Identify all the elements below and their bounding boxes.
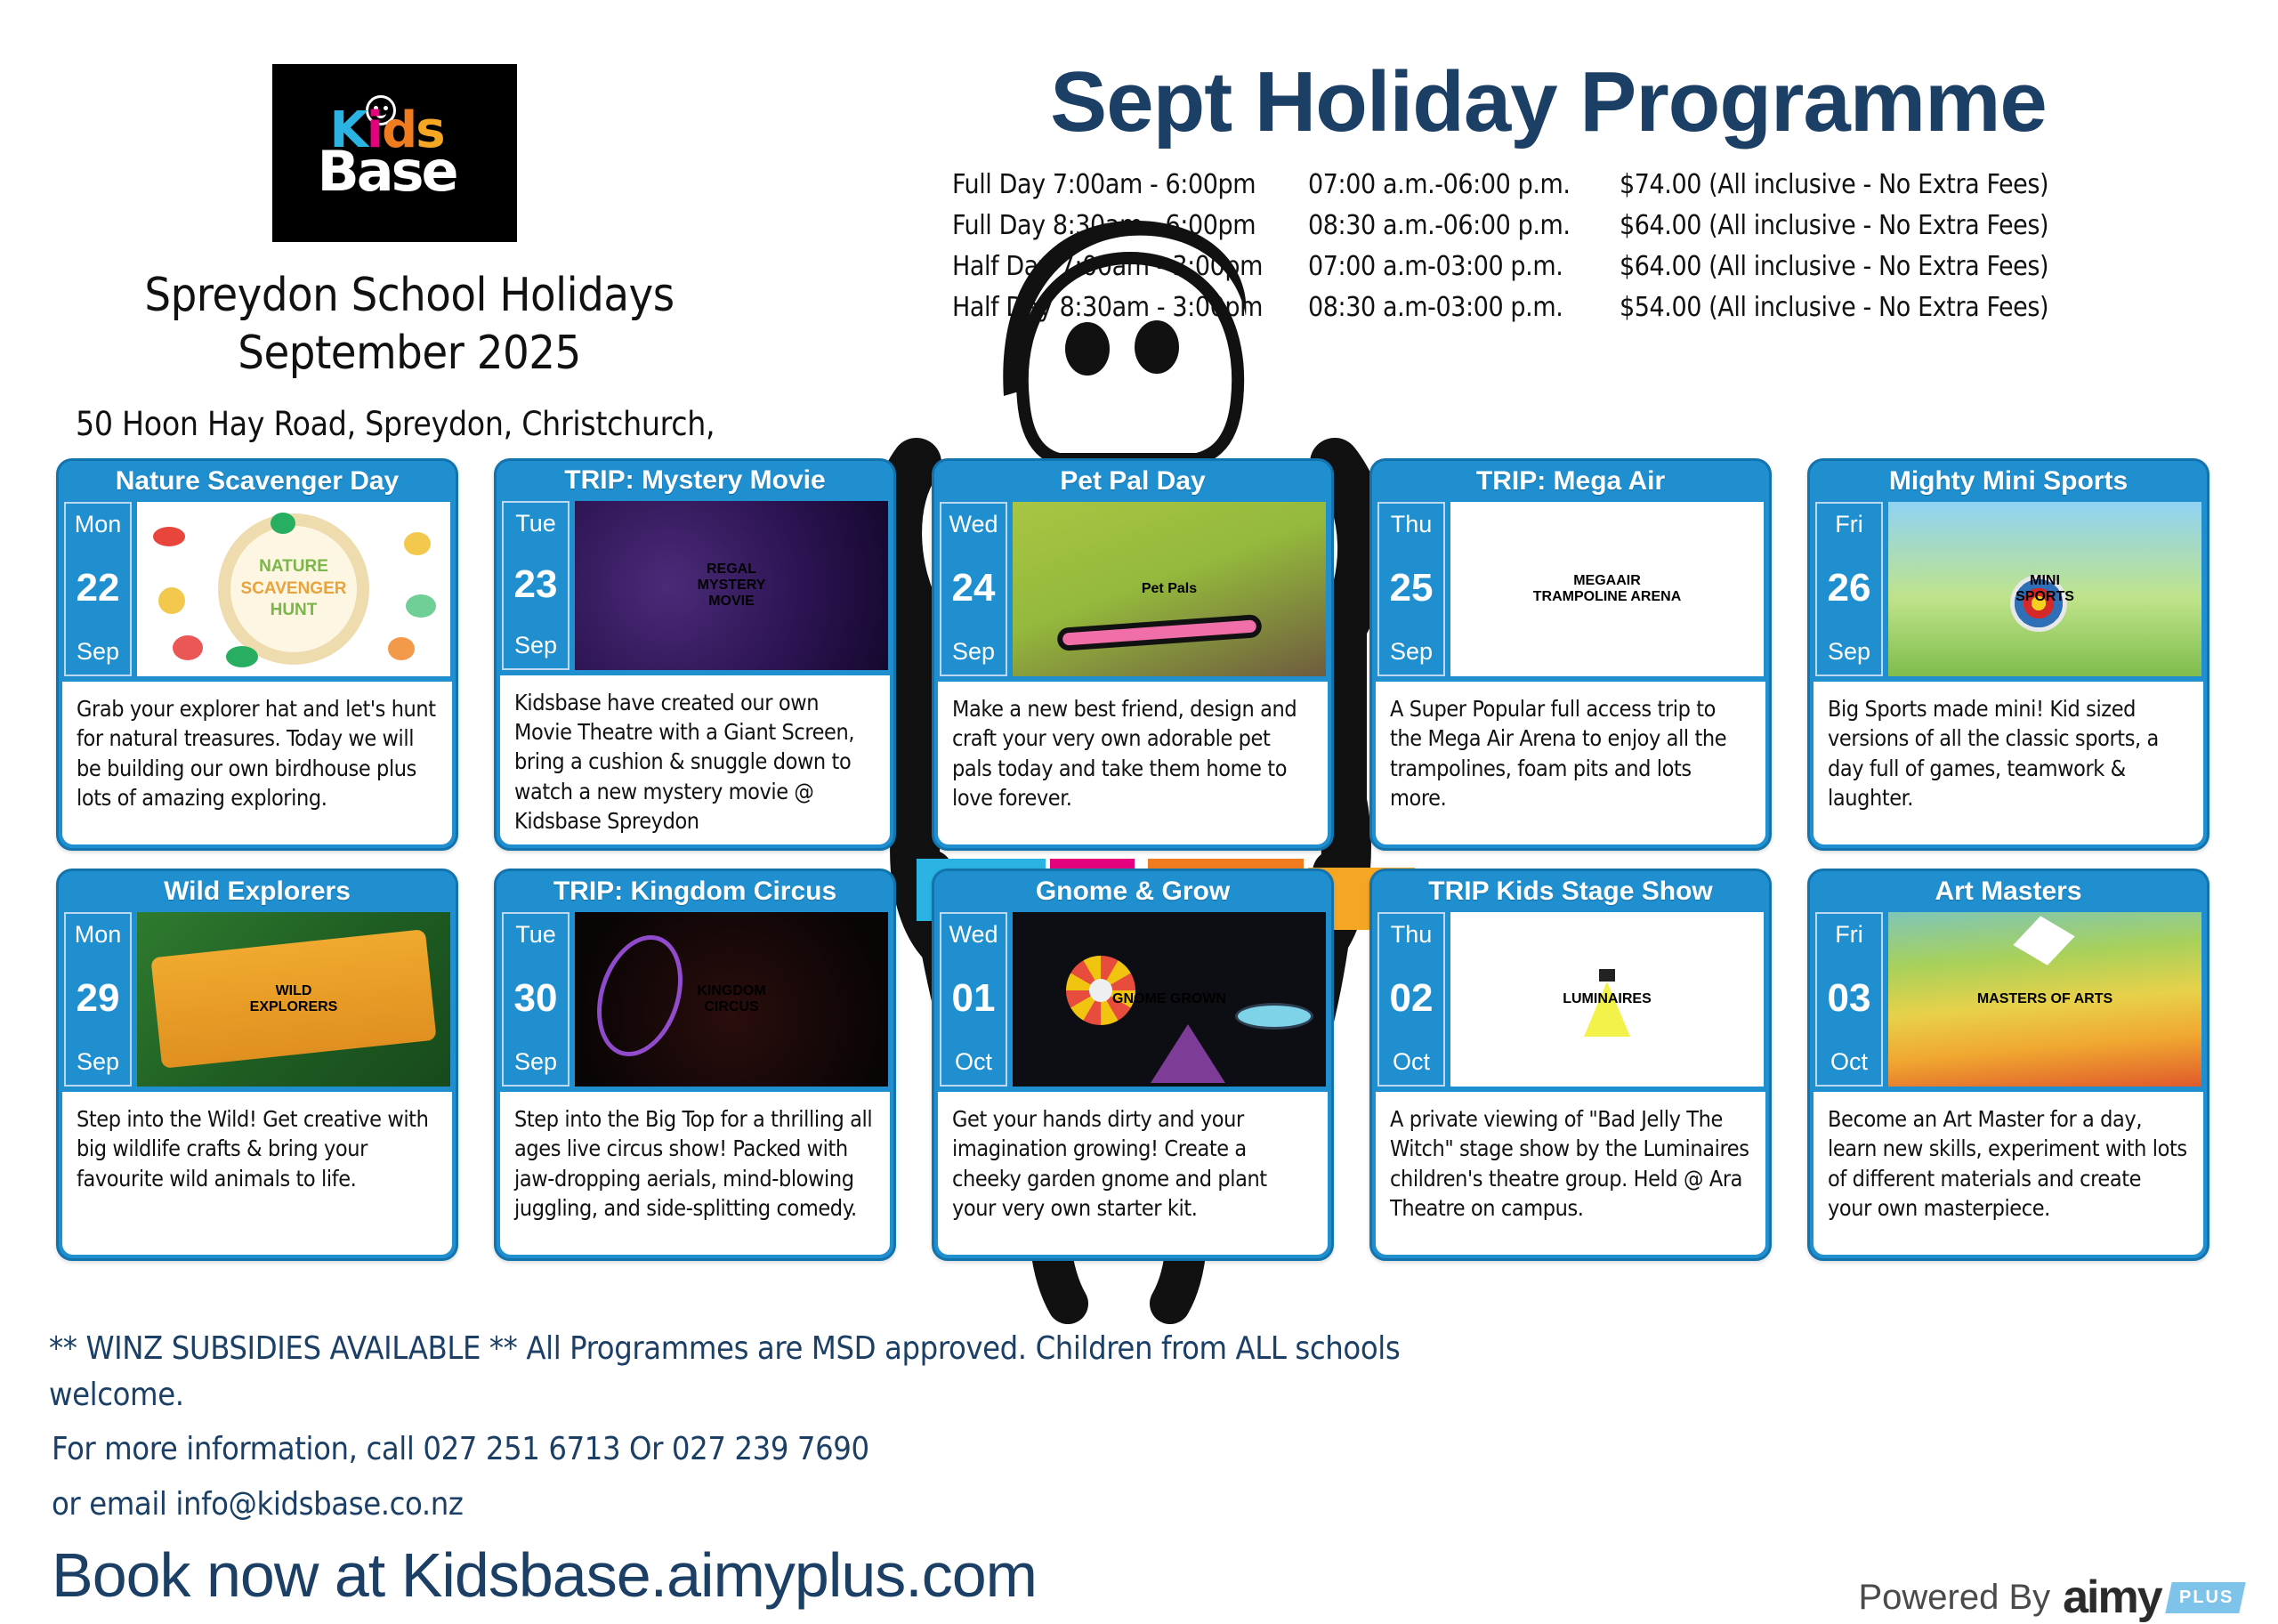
mega-air-trampoline-arena-image: MEGAAIR TRAMPOLINE ARENA bbox=[1450, 502, 1764, 676]
image-text-line-2: SCAVENGER bbox=[241, 578, 347, 601]
image-text-line-1: MINI bbox=[1888, 573, 2201, 589]
card-day-number: 22 bbox=[77, 569, 120, 608]
pricing-label: Half Day 8:30am - 3:00pm bbox=[952, 292, 1308, 323]
image-text-line-2: MYSTERY bbox=[575, 578, 888, 594]
image-text-line-2: EXPLORERS bbox=[137, 999, 450, 1015]
card-month: Sep bbox=[514, 634, 557, 658]
card-month: Sep bbox=[1390, 640, 1433, 664]
image-text-line-3: TRAMPOLINE ARENA bbox=[1450, 589, 1764, 605]
pricing-price: $74.00 (All inclusive - No Extra Fees) bbox=[1620, 169, 2136, 200]
card-description: Big Sports made mini! Kid sized versions… bbox=[1814, 682, 2203, 844]
card-date-box: Tue 30 Sep bbox=[502, 912, 569, 1087]
luminaires-image: LUMINAIRES bbox=[1450, 912, 1764, 1087]
kingdom-circus-image: KINGDOM CIRCUS bbox=[575, 912, 888, 1087]
pricing-row: Full Day 7:00am - 6:00pm 07:00 a.m.-06:0… bbox=[952, 169, 2136, 210]
pricing-times: 07:00 a.m.-06:00 p.m. bbox=[1308, 169, 1620, 200]
image-text-line-1: NATURE bbox=[241, 556, 347, 578]
card-month: Oct bbox=[955, 1050, 992, 1074]
pricing-row: Half Day 7:00am - 3:00pm 07:00 a.m-03:00… bbox=[952, 251, 2136, 292]
card-day-of-week: Wed bbox=[949, 923, 998, 947]
card-month: Sep bbox=[1828, 640, 1870, 664]
card-date-box: Mon 29 Sep bbox=[64, 912, 132, 1087]
card-day-number: 25 bbox=[1390, 569, 1434, 608]
image-text-line-1: LUMINAIRES bbox=[1450, 991, 1764, 1007]
image-text-line-3: HUNT bbox=[241, 600, 347, 622]
card-day-of-week: Fri bbox=[1835, 923, 1862, 947]
card-day-of-week: Wed bbox=[949, 513, 998, 537]
card-day-of-week: Tue bbox=[515, 923, 556, 947]
image-text-line-1: MASTERS OF ARTS bbox=[1888, 991, 2201, 1007]
school-title: Spreydon School Holidays September 2025 bbox=[36, 267, 783, 383]
pricing-times: 08:30 a.m.-06:00 p.m. bbox=[1308, 210, 1620, 241]
activity-card[interactable]: TRIP: Kingdom Circus Tue 30 Sep KINGDOM … bbox=[494, 869, 896, 1261]
card-description: A private viewing of "Bad Jelly The Witc… bbox=[1376, 1092, 1765, 1255]
wild-explorers-image: WILD EXPLORERS bbox=[137, 912, 450, 1087]
card-month: Sep bbox=[77, 640, 119, 664]
card-date-box: Thu 25 Sep bbox=[1377, 502, 1445, 676]
image-text-line-1: MEGA bbox=[1573, 573, 1616, 588]
activity-card-grid: Nature Scavenger Day Mon 22 Sep bbox=[56, 458, 2227, 1261]
card-description: A Super Popular full access trip to the … bbox=[1376, 682, 1765, 844]
card-month: Oct bbox=[1830, 1050, 1868, 1074]
card-day-number: 30 bbox=[514, 979, 558, 1018]
plus-badge: PLUS bbox=[2165, 1582, 2246, 1613]
image-text-line-2: SPORTS bbox=[1888, 589, 2201, 605]
school-title-line1: Spreydon School Holidays bbox=[36, 267, 783, 325]
card-day-number: 29 bbox=[77, 979, 120, 1018]
card-day-of-week: Tue bbox=[515, 512, 556, 536]
powered-by-aimyplus-logo: Powered By aimy PLUS bbox=[1858, 1571, 2242, 1624]
card-day-of-week: Thu bbox=[1391, 513, 1433, 537]
pricing-price: $54.00 (All inclusive - No Extra Fees) bbox=[1620, 292, 2136, 323]
card-description: Make a new best friend, design and craft… bbox=[938, 682, 1328, 844]
card-description: Step into the Wild! Get creative with bi… bbox=[62, 1092, 452, 1255]
card-day-number: 26 bbox=[1828, 569, 1871, 608]
card-description: Step into the Big Top for a thrilling al… bbox=[500, 1092, 890, 1255]
image-text-line-2: Pals bbox=[1167, 581, 1197, 596]
regal-mystery-movie-image: REGAL MYSTERY MOVIE bbox=[575, 501, 888, 670]
contact-email-line: or email info@kidsbase.co.nz bbox=[52, 1486, 463, 1523]
pricing-price: $64.00 (All inclusive - No Extra Fees) bbox=[1620, 251, 2136, 282]
activity-card[interactable]: TRIP Kids Stage Show Thu 02 Oct LUMINAIR… bbox=[1369, 869, 1772, 1261]
activity-card[interactable]: TRIP: Mega Air Thu 25 Sep MEGAAIR TRAMPO… bbox=[1369, 458, 1772, 851]
image-text-line-2: CIRCUS bbox=[575, 999, 888, 1015]
card-title: Mighty Mini Sports bbox=[1810, 461, 2207, 502]
contact-phone-line: For more information, call 027 251 6713 … bbox=[52, 1431, 869, 1467]
pricing-label: Half Day 7:00am - 3:00pm bbox=[952, 251, 1308, 282]
card-month: Sep bbox=[952, 640, 995, 664]
card-description: Get your hands dirty and your imaginatio… bbox=[938, 1092, 1328, 1255]
card-title: TRIP: Mystery Movie bbox=[497, 461, 893, 501]
pricing-times: 08:30 a.m-03:00 p.m. bbox=[1308, 292, 1620, 323]
card-description: Kidsbase have created our own Movie Thea… bbox=[500, 675, 890, 844]
card-day-number: 02 bbox=[1390, 979, 1434, 1018]
card-title: Wild Explorers bbox=[59, 871, 456, 912]
aimy-wordmark: aimy bbox=[2063, 1571, 2161, 1624]
image-text-line-1: Pet bbox=[1142, 581, 1164, 596]
card-date-box: Tue 23 Sep bbox=[502, 501, 569, 670]
pricing-row: Full Day 8:30am - 6:00pm 08:30 a.m.-06:0… bbox=[952, 210, 2136, 251]
school-title-line2: September 2025 bbox=[36, 325, 783, 383]
kidsbase-logo: Kids Base bbox=[272, 64, 517, 242]
card-date-box: Wed 01 Oct bbox=[940, 912, 1007, 1087]
programme-title: Sept Holiday Programme bbox=[961, 53, 2136, 151]
activity-card[interactable]: Art Masters Fri 03 Oct MASTERS OF ARTS B… bbox=[1807, 869, 2209, 1261]
mini-sports-image: MINI SPORTS bbox=[1888, 502, 2201, 676]
card-title: Art Masters bbox=[1810, 871, 2207, 912]
pricing-times: 07:00 a.m-03:00 p.m. bbox=[1308, 251, 1620, 282]
card-title: Nature Scavenger Day bbox=[59, 461, 456, 502]
pricing-price: $64.00 (All inclusive - No Extra Fees) bbox=[1620, 210, 2136, 241]
pricing-table: Full Day 7:00am - 6:00pm 07:00 a.m.-06:0… bbox=[952, 169, 2136, 333]
image-text-line-1: GNOME GROWN bbox=[1013, 991, 1326, 1007]
card-day-number: 01 bbox=[952, 979, 996, 1018]
activity-card[interactable]: TRIP: Mystery Movie Tue 23 Sep REGAL MYS… bbox=[494, 458, 896, 851]
card-day-of-week: Mon bbox=[75, 513, 122, 537]
card-date-box: Fri 26 Sep bbox=[1815, 502, 1883, 676]
graduation-cap-icon bbox=[2009, 912, 2080, 982]
card-date-box: Wed 24 Sep bbox=[940, 502, 1007, 676]
logo-base-text: Base bbox=[318, 144, 456, 199]
pricing-row: Half Day 8:30am - 3:00pm 08:30 a.m-03:00… bbox=[952, 292, 2136, 333]
card-day-of-week: Thu bbox=[1391, 923, 1433, 947]
activity-card[interactable]: Gnome & Grow Wed 01 Oct GNOME GROWN Get … bbox=[932, 869, 1334, 1261]
card-title: TRIP: Mega Air bbox=[1372, 461, 1769, 502]
card-day-number: 24 bbox=[952, 569, 996, 608]
card-title: Gnome & Grow bbox=[934, 871, 1331, 912]
card-month: Oct bbox=[1393, 1050, 1430, 1074]
card-title: Pet Pal Day bbox=[934, 461, 1331, 502]
school-address: 50 Hoon Hay Road, Spreydon, Christchurch… bbox=[76, 405, 715, 443]
card-date-box: Mon 22 Sep bbox=[64, 502, 132, 676]
activity-card[interactable]: Mighty Mini Sports Fri 26 Sep MINI SPORT… bbox=[1807, 458, 2209, 851]
poster-header: Kids Base Spreydon School Holidays Septe… bbox=[0, 0, 2278, 436]
booking-link[interactable]: Book now at Kidsbase.aimyplus.com bbox=[52, 1539, 1037, 1611]
card-day-number: 23 bbox=[514, 565, 558, 604]
activity-card[interactable]: Wild Explorers Mon 29 Sep WILD EXPLORERS… bbox=[56, 869, 458, 1261]
activity-card[interactable]: Nature Scavenger Day Mon 22 Sep bbox=[56, 458, 458, 851]
masters-of-arts-image: MASTERS OF ARTS bbox=[1888, 912, 2201, 1087]
card-month: Sep bbox=[77, 1050, 119, 1074]
image-text-line-1: KINGDOM bbox=[575, 983, 888, 999]
pricing-label: Full Day 7:00am - 6:00pm bbox=[952, 169, 1308, 200]
card-day-number: 03 bbox=[1828, 979, 1871, 1018]
pet-pals-image: Pet Pals bbox=[1013, 502, 1326, 676]
card-title: TRIP Kids Stage Show bbox=[1372, 871, 1769, 912]
activity-card[interactable]: Pet Pal Day Wed 24 Sep Pet Pals Make a n… bbox=[932, 458, 1334, 851]
card-title: TRIP: Kingdom Circus bbox=[497, 871, 893, 912]
card-description: Become an Art Master for a day, learn ne… bbox=[1814, 1092, 2203, 1255]
image-text-line-1: REGAL bbox=[575, 562, 888, 578]
card-description: Grab your explorer hat and let's hunt fo… bbox=[62, 682, 452, 844]
powered-by-label: Powered By bbox=[1858, 1578, 2050, 1618]
image-text-line-1: WILD bbox=[137, 983, 450, 999]
lightbulb-icon bbox=[1584, 982, 1630, 1037]
winz-subsidy-note: ** WINZ SUBSIDIES AVAILABLE ** All Progr… bbox=[49, 1326, 1402, 1418]
card-day-of-week: Mon bbox=[75, 923, 122, 947]
card-date-box: Thu 02 Oct bbox=[1377, 912, 1445, 1087]
card-month: Sep bbox=[514, 1050, 557, 1074]
card-date-box: Fri 03 Oct bbox=[1815, 912, 1883, 1087]
image-text-line-2: AIR bbox=[1616, 573, 1641, 588]
card-day-of-week: Fri bbox=[1835, 513, 1862, 537]
gnome-grown-image: GNOME GROWN bbox=[1013, 912, 1326, 1087]
image-text-line-3: MOVIE bbox=[575, 594, 888, 610]
pricing-label: Full Day 8:30am - 6:00pm bbox=[952, 210, 1308, 241]
nature-scavenger-hunt-image: NATURE SCAVENGER HUNT bbox=[137, 502, 450, 676]
